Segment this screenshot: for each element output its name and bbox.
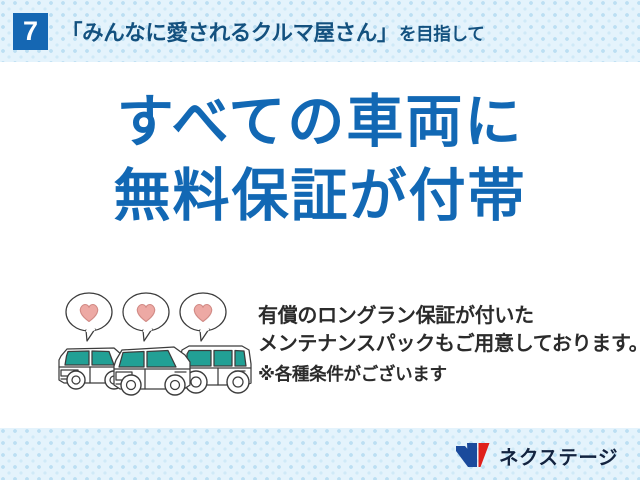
- car-minivan: [114, 347, 190, 395]
- header-title-main: 「みんなに愛されるクルマ屋さん」: [61, 16, 398, 47]
- body-copy-block: 有償のロングラン保証が付いた メンテナンスパックもご用意しております。 ※各種条…: [258, 302, 633, 387]
- nexstage-n-mark-icon: [455, 442, 491, 468]
- brand-logo: ネクステージ: [455, 440, 618, 470]
- section-number-badge: 7: [13, 13, 48, 50]
- header-bar: 7 「みんなに愛されるクルマ屋さん」 を目指して: [0, 0, 640, 62]
- body-copy-line-1: 有償のロングラン保証が付いた: [258, 302, 633, 330]
- heart-bubble-3: [180, 293, 226, 341]
- lower-section: 有償のロングラン保証が付いた メンテナンスパックもご用意しております。 ※各種条…: [0, 288, 640, 406]
- header-title-suffix: を目指して: [399, 21, 484, 46]
- heart-bubble-1: [66, 293, 112, 341]
- cars-illustration: [56, 288, 256, 400]
- brand-name-text: ネクステージ: [499, 441, 618, 470]
- heart-bubble-2: [123, 293, 169, 341]
- banner-canvas: 7 「みんなに愛されるクルマ屋さん」 を目指して すべての車両に 無料保証が付帯: [0, 0, 640, 480]
- headline-line-1: すべての車両に: [0, 94, 640, 151]
- body-copy-line-2: メンテナンスパックもご用意しております。: [258, 330, 633, 358]
- body-copy-note: ※各種条件がございます: [258, 362, 633, 387]
- car-suv: [180, 346, 251, 393]
- headline-line-2: 無料保証が付帯: [0, 168, 640, 225]
- header-title: 「みんなに愛されるクルマ屋さん」 を目指して: [61, 16, 484, 47]
- cars-illustration-svg: [56, 288, 256, 400]
- headline-block: すべての車両に 無料保証が付帯: [0, 94, 640, 225]
